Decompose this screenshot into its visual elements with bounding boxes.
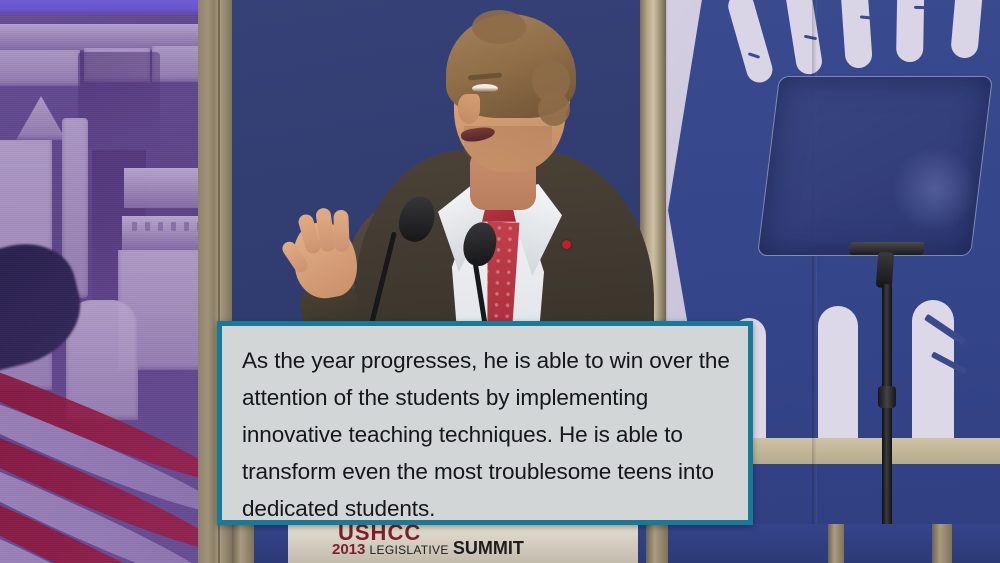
liberty-spike	[950, 0, 986, 59]
teleprompter-pole-collar	[878, 386, 896, 408]
podium-event-label: 2013 LEGISLATIVE SUMMIT	[332, 538, 524, 559]
podium-year: 2013	[332, 541, 365, 558]
teleprompter-reflection	[892, 146, 978, 232]
liberty-spike	[839, 0, 873, 69]
liberty-spike	[725, 0, 775, 86]
caption-overlay-box: As the year progresses, he is able to wi…	[217, 321, 753, 525]
caption-text: As the year progresses, he is able to wi…	[242, 342, 730, 527]
panel-grain	[0, 0, 198, 563]
liberty-spike	[783, 0, 824, 76]
podium-event-word-2: SUMMIT	[453, 538, 524, 558]
teleprompter-joint	[876, 251, 894, 288]
liberty-spike	[896, 0, 925, 62]
caption-inner: As the year progresses, he is able to wi…	[222, 326, 748, 537]
liberty-arch	[818, 306, 858, 442]
panel-top-band	[0, 0, 198, 14]
lapel-pin	[562, 240, 571, 249]
nose	[458, 94, 480, 124]
podium-event-word-1: LEGISLATIVE	[370, 543, 449, 557]
finger	[333, 210, 349, 252]
teleprompter-pole	[882, 284, 892, 563]
eye	[472, 84, 498, 93]
left-graphic-panel	[0, 0, 198, 563]
video-frame: USHCC 2013 LEGISLATIVE SUMMIT As the yea…	[0, 0, 1000, 563]
